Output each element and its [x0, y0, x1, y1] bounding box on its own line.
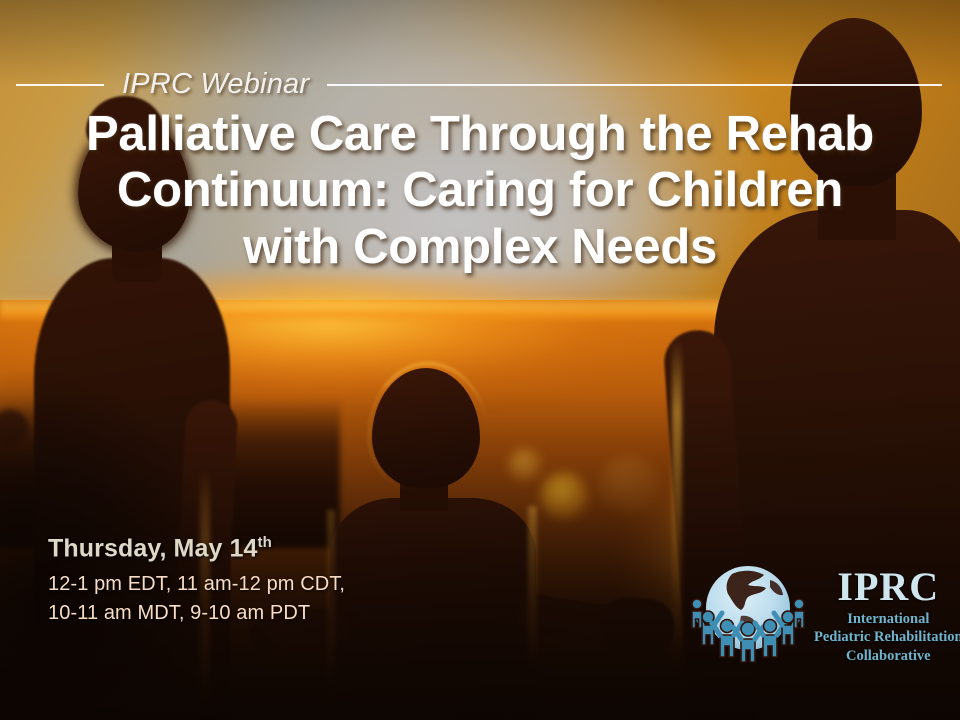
webinar-promo-slide: IPRC Webinar Palliative Care Through the…	[0, 0, 960, 720]
kicker-label: IPRC Webinar	[118, 68, 313, 101]
title-line-3: with Complex Needs	[22, 219, 938, 275]
kicker-rule-left	[16, 84, 104, 86]
page-title: Palliative Care Through the Rehab Contin…	[22, 106, 938, 275]
iprc-name-line-1: International	[814, 610, 960, 629]
event-date-ordinal: th	[258, 534, 272, 551]
title-line-1: Palliative Care Through the Rehab	[22, 106, 938, 162]
title-line-2: Continuum: Caring for Children	[22, 162, 938, 218]
iprc-name-line-3: Collaborative	[814, 647, 960, 666]
event-date: Thursday, May 14th	[48, 535, 345, 563]
iprc-full-name: International Pediatric Rehabilitation C…	[814, 610, 960, 666]
iprc-name-line-2: Pediatric Rehabilitation	[814, 628, 960, 647]
iprc-logo: IPRC International Pediatric Rehabilitat…	[686, 556, 930, 672]
event-times-line-2: 10-11 am MDT, 9-10 am PDT	[48, 599, 345, 628]
iprc-logo-text: IPRC International Pediatric Rehabilitat…	[814, 563, 960, 666]
kicker-row: IPRC Webinar	[16, 68, 942, 101]
kicker-rule-right	[327, 84, 942, 86]
slide-content: IPRC Webinar Palliative Care Through the…	[0, 0, 960, 720]
iprc-acronym: IPRC	[814, 567, 960, 607]
event-date-text: Thursday, May 14	[48, 534, 258, 562]
date-and-time-block: Thursday, May 14th 12-1 pm EDT, 11 am-12…	[48, 535, 345, 628]
globe-encircled-by-people-icon	[686, 558, 810, 670]
event-times-line-1: 12-1 pm EDT, 11 am-12 pm CDT,	[48, 570, 345, 599]
